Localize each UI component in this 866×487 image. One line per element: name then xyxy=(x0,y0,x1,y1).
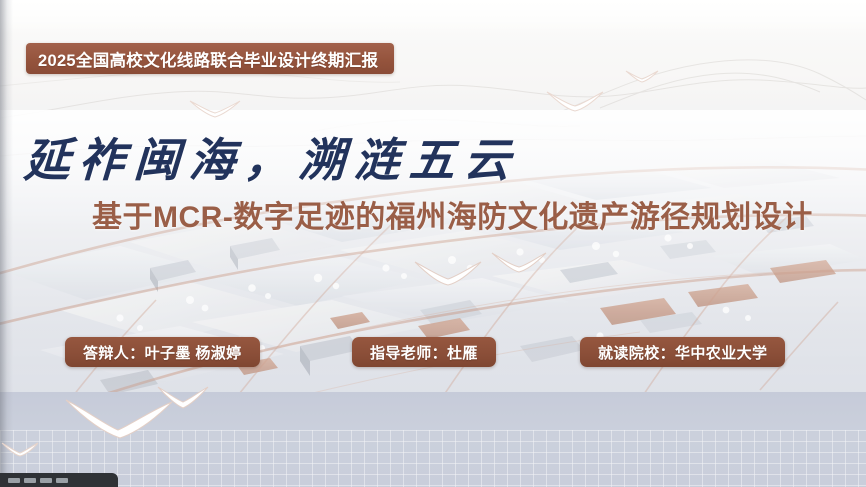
credit-presenter-label: 答辩人：叶子墨 杨淑婷 xyxy=(83,342,242,363)
top-white-fade xyxy=(0,0,866,34)
seagull-icon xyxy=(412,257,484,287)
taskbar-item-icon[interactable] xyxy=(24,478,36,483)
left-edge-shadow xyxy=(0,0,13,487)
seagull-icon xyxy=(155,383,211,411)
taskbar-item-icon[interactable] xyxy=(8,478,20,483)
seagull-icon xyxy=(490,249,548,275)
credit-advisor-label: 指导老师：杜雁 xyxy=(370,342,478,363)
page-subtitle: 基于MCR-数字足迹的福州海防文化遗产游径规划设计 xyxy=(92,203,813,233)
taskbar-sliver[interactable] xyxy=(0,473,118,487)
credit-institution-label: 就读院校：华中农业大学 xyxy=(598,342,767,363)
credits-row: 答辩人：叶子墨 杨淑婷 指导老师：杜雁 就读院校：华中农业大学 xyxy=(0,337,866,371)
taskbar-item-icon[interactable] xyxy=(40,478,52,483)
seagull-icon xyxy=(625,68,659,84)
credit-advisor: 指导老师：杜雁 xyxy=(352,337,496,367)
page-title: 延祚闽海，溯涟五云 xyxy=(23,137,520,183)
presentation-slide: 2025全国高校文化线路联合毕业设计终期汇报 延祚闽海，溯涟五云 基于MCR-数… xyxy=(0,0,866,487)
credit-presenter: 答辩人：叶子墨 杨淑婷 xyxy=(65,337,260,367)
taskbar-item-icon[interactable] xyxy=(56,478,68,483)
seagull-icon xyxy=(545,88,605,114)
conference-banner-label: 2025全国高校文化线路联合毕业设计终期汇报 xyxy=(38,47,378,71)
credit-institution: 就读院校：华中农业大学 xyxy=(580,337,785,367)
seagull-icon xyxy=(188,98,242,120)
conference-banner: 2025全国高校文化线路联合毕业设计终期汇报 xyxy=(26,43,394,74)
seagull-icon xyxy=(0,440,40,458)
